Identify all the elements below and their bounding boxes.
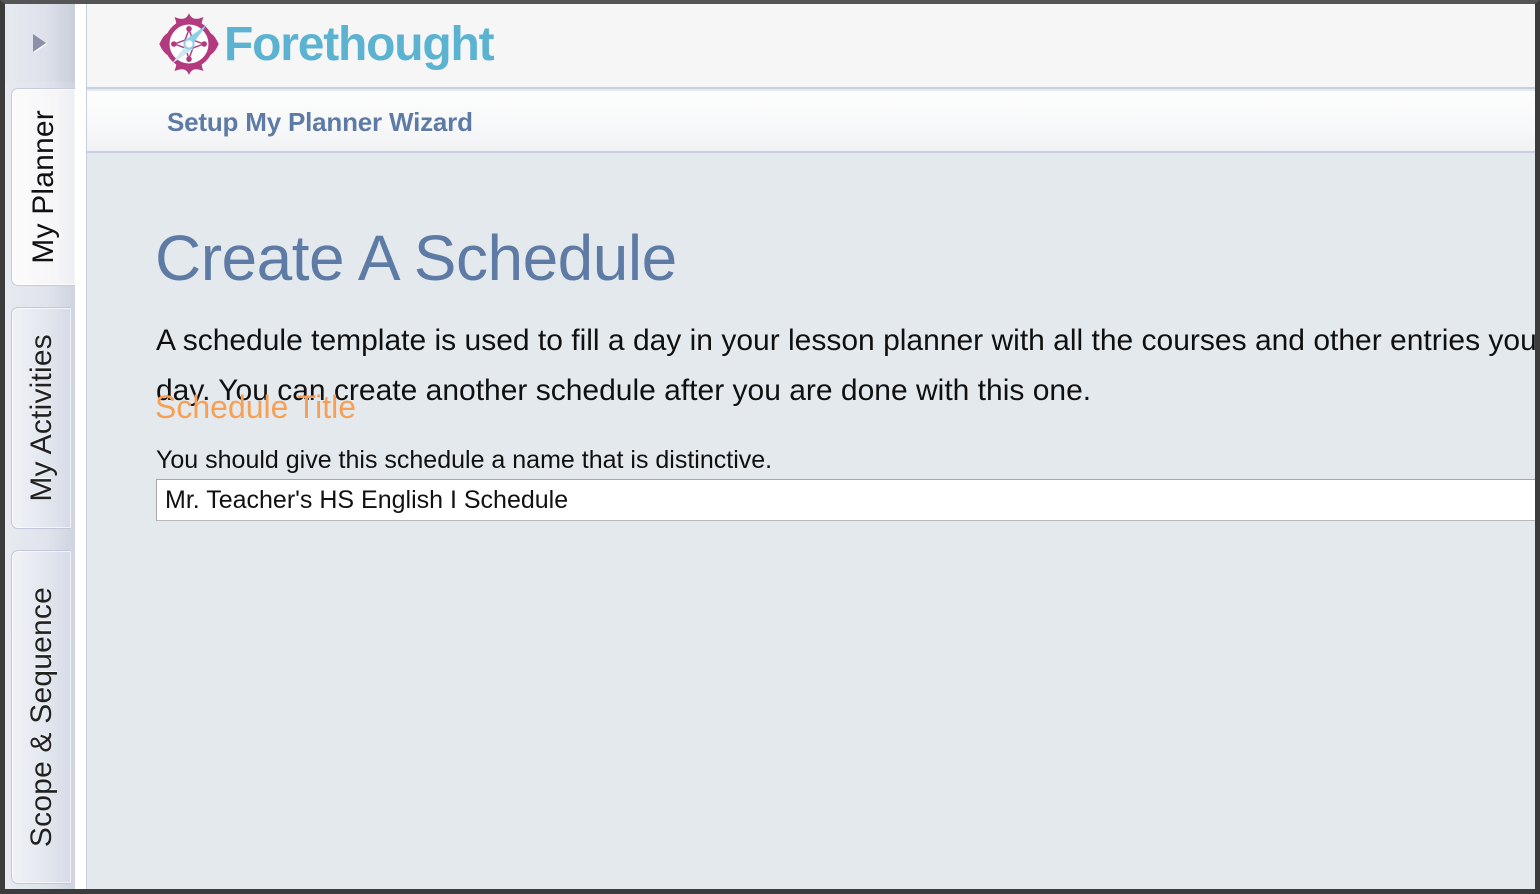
main-panel: Forethought Setup My Planner Wizard Crea… (75, 4, 1536, 889)
intro-paragraph: A schedule template is used to fill a da… (156, 316, 1536, 416)
schedule-title-helper-text: You should give this schedule a name tha… (156, 445, 772, 475)
sidebar-item-my-planner[interactable]: My Planner (11, 88, 75, 286)
section-label-schedule-title: Schedule Title (155, 391, 356, 423)
sidebar-item-label: Scope & Sequence (25, 587, 59, 847)
panel-gutter (75, 4, 87, 889)
wizard-title: Setup My Planner Wizard (167, 107, 473, 138)
wizard-title-bar: Setup My Planner Wizard (87, 91, 1536, 153)
brand-header: Forethought (87, 4, 1536, 89)
schedule-title-input[interactable] (156, 479, 1536, 521)
brand-logo[interactable]: Forethought (156, 11, 493, 77)
triangle-right-icon[interactable] (33, 34, 46, 52)
sidebar-item-label: My Planner (27, 110, 61, 264)
page-title: Create A Schedule (155, 226, 677, 290)
content-area: Create A Schedule A schedule template is… (87, 155, 1536, 889)
vertical-tab-rail: My Planner My Activities Scope & Sequenc… (5, 4, 75, 889)
sidebar-item-label: My Activities (25, 334, 59, 502)
tab-rail-header (5, 4, 75, 82)
compass-icon (156, 11, 222, 77)
sidebar-item-my-activities[interactable]: My Activities (11, 307, 71, 529)
brand-name: Forethought (224, 21, 493, 69)
sidebar-item-scope-sequence[interactable]: Scope & Sequence (11, 550, 71, 884)
application-window: My Planner My Activities Scope & Sequenc… (0, 0, 1540, 894)
